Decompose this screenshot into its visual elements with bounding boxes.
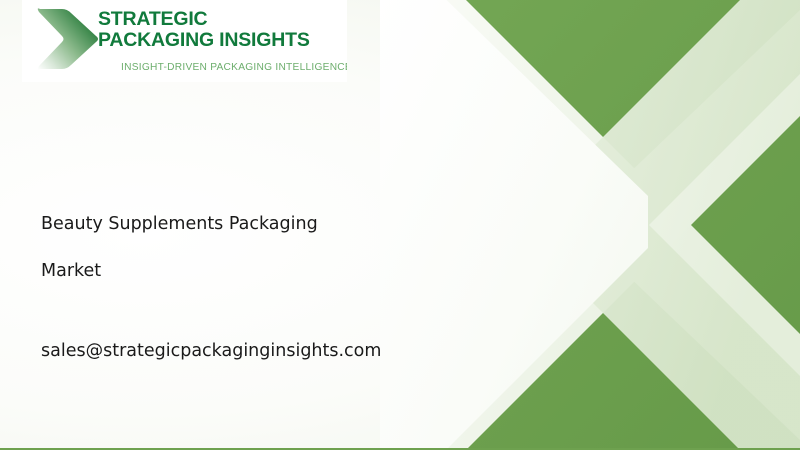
company-logo: STRATEGIC PACKAGING INSIGHTS INSIGHT-DRI… [22, 0, 347, 82]
chevron-right-icon [34, 3, 100, 75]
logo-tagline: INSIGHT-DRIVEN PACKAGING INTELLIGENCE [121, 62, 347, 73]
page-title-line-1: Beauty Supplements Packaging [41, 212, 511, 236]
logo-wordmark: STRATEGIC PACKAGING INSIGHTS [98, 9, 344, 51]
logo-name-line-1: STRATEGIC [98, 9, 344, 30]
slide-copy: Beauty Supplements Packaging Market sale… [41, 212, 511, 363]
page-title-line-2: Market [41, 259, 511, 283]
logo-name-line-2: PACKAGING INSIGHTS [98, 30, 344, 51]
contact-email: sales@strategicpackaginginsights.com [41, 339, 511, 363]
slide-canvas: STRATEGIC PACKAGING INSIGHTS INSIGHT-DRI… [0, 0, 800, 450]
